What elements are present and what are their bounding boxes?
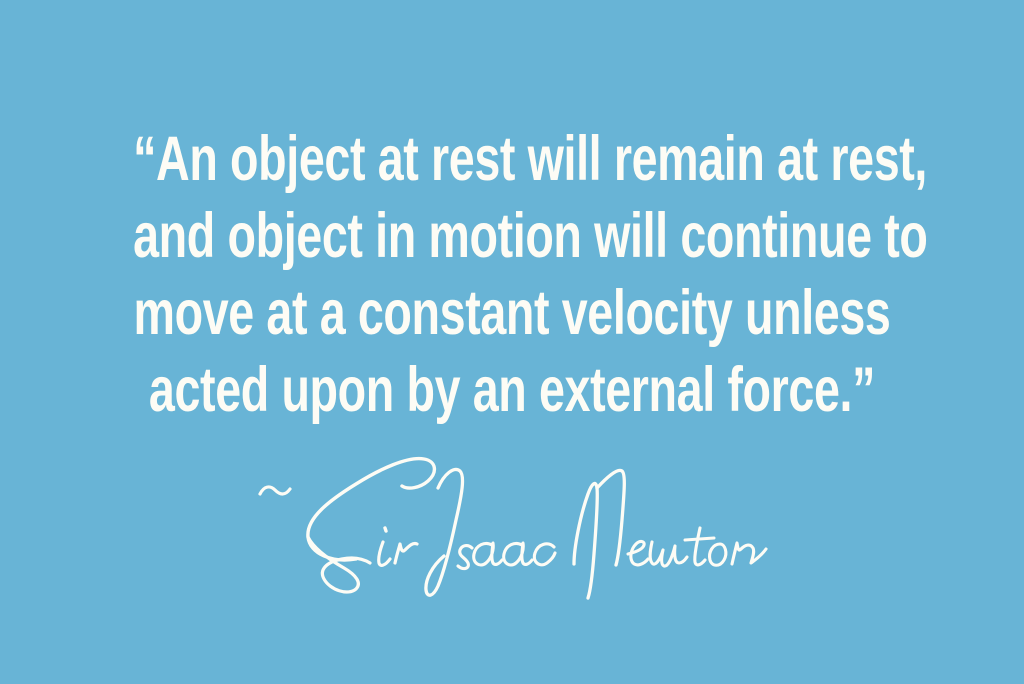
signature-letter-c — [534, 544, 555, 565]
signature-letter-N-stroke2 — [597, 470, 624, 565]
signature-script-icon — [252, 432, 772, 608]
signature-letter-w — [650, 542, 687, 566]
quote-line-2: and object in motion will continue to — [133, 198, 891, 275]
signature-letter-s — [458, 546, 472, 569]
signature-letter-t-cross — [685, 538, 714, 540]
signature-letter-o — [710, 544, 726, 565]
attribution-signature: ~ Sir Isaac Newton — [0, 432, 1024, 608]
signature-letter-I — [426, 470, 463, 596]
signature-letter-a2 — [504, 543, 532, 565]
quote-line-1: “An object at rest will remain at rest, — [133, 121, 891, 198]
signature-S-loop — [308, 537, 370, 592]
signature-letter-n — [732, 543, 766, 564]
quote-line-4: acted upon by an external force.” — [133, 352, 891, 429]
signature-letter-r — [395, 543, 417, 563]
signature-letter-t — [695, 528, 705, 565]
signature-letter-i — [379, 542, 390, 565]
signature-letter-N-stroke1 — [574, 483, 597, 598]
signature-tilde — [260, 487, 290, 494]
quote-card: “An object at rest will remain at rest, … — [0, 0, 1024, 684]
signature-letter-a1 — [474, 543, 502, 565]
quote-line-3: move at a constant velocity unless — [133, 275, 891, 352]
quote-text-block: “An object at rest will remain at rest, … — [0, 121, 1024, 429]
signature-letter-i-dot — [385, 528, 386, 531]
signature-letter-e — [628, 541, 648, 564]
